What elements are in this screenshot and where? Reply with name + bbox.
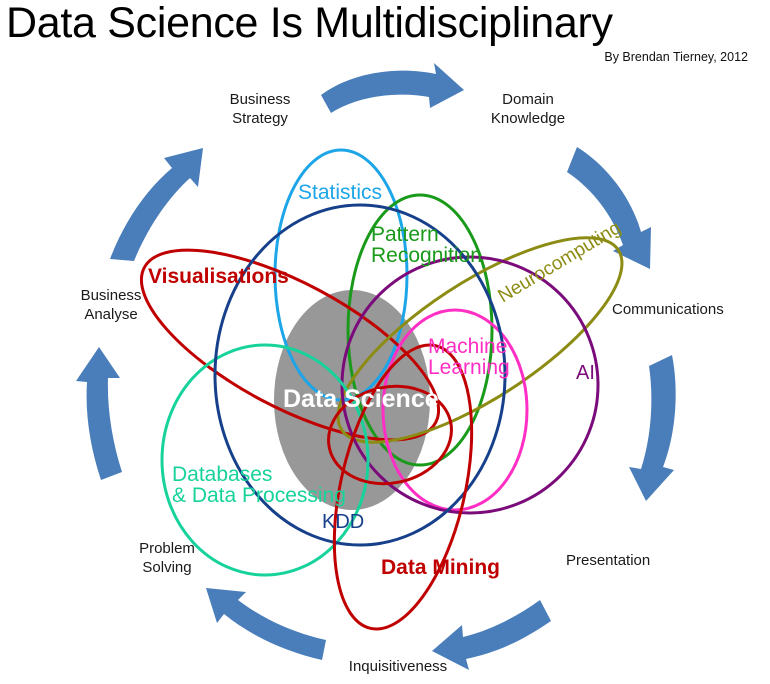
ring-label-inquisitiveness: Inquisitiveness [328, 657, 468, 676]
venn-label-pattern-recognition: Pattern Recognition [371, 224, 482, 267]
venn-label-kdd: KDD [322, 512, 364, 532]
arrow-top-left [110, 148, 203, 261]
ring-label-problem-solving: Problem Solving [112, 539, 222, 577]
ring-label-domain-knowledge: Domain Knowledge [468, 90, 588, 128]
venn-label-data-science-core: Data Science [283, 387, 439, 413]
arrow-top [321, 63, 464, 113]
ring-label-business-strategy: Business Strategy [205, 90, 315, 128]
arrow-bottom-left [206, 588, 326, 660]
venn-label-statistics: Statistics [298, 182, 382, 203]
venn-label-databases: Databases & Data Processing [172, 464, 346, 507]
venn-label-ai: AI [576, 363, 595, 383]
ring-label-business-analyse: Business Analyse [56, 286, 166, 324]
venn-label-visualisations: Visualisations [148, 266, 289, 287]
venn-label-data-mining: Data Mining [381, 557, 500, 578]
arrow-left [76, 347, 122, 480]
ring-label-presentation: Presentation [566, 551, 696, 570]
venn-diagram-svg [0, 0, 770, 684]
arrow-right [629, 355, 676, 501]
ring-label-communications: Communications [612, 300, 752, 319]
venn-label-machine-learning: Machine Learning [428, 336, 510, 379]
diagram-canvas: Data Science Is Multidisciplinary By Bre… [0, 0, 770, 684]
